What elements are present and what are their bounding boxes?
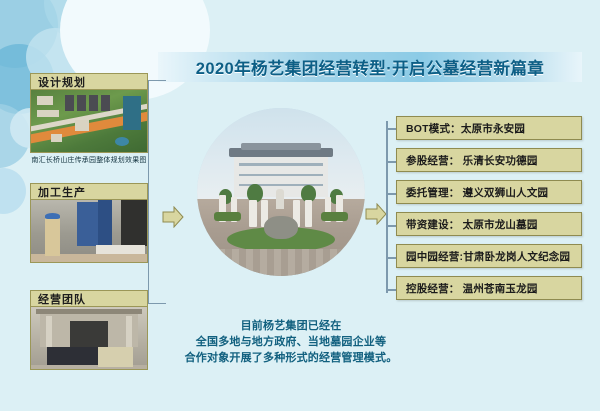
title-banner: 2020年杨艺集团经营转型·开启公墓经营新篇章 — [158, 52, 582, 82]
business-model-item-park-in-park[interactable]: 园中园经营:甘肃卧龙岗人文纪念园 — [396, 244, 582, 268]
business-model-item-entrusted[interactable]: 委托管理： 遵义双狮山人文园 — [396, 180, 582, 204]
card-processing-production[interactable]: 加工生产 — [30, 183, 148, 263]
management-team-photo — [30, 307, 148, 370]
arrow-right-icon — [365, 203, 387, 225]
business-model-label: 带资建设： 太原市龙山墓园 — [406, 217, 538, 232]
bubble-icon — [0, 168, 26, 214]
left-bracket-connector — [148, 80, 166, 304]
business-model-item-holding[interactable]: 控股经营： 温州苍南玉龙园 — [396, 276, 582, 300]
business-model-label: 园中园经营:甘肃卧龙岗人文纪念园 — [406, 249, 570, 264]
summary-line-1: 目前杨艺集团已经在 — [168, 318, 414, 334]
business-model-item-bot[interactable]: BOT模式：太原市永安园 — [396, 116, 582, 140]
summary-line-3: 合作对象开展了多种形式的经营管理模式。 — [168, 350, 414, 366]
business-model-label: BOT模式：太原市永安园 — [406, 121, 525, 136]
aerial-masterplan-photo — [30, 90, 148, 153]
card-label-header: 经营团队 — [30, 290, 148, 307]
page-title: 2020年杨艺集团经营转型·开启公墓经营新篇章 — [196, 55, 544, 79]
card-label-header: 加工生产 — [30, 183, 148, 200]
cemetery-office-building-fountain-photo — [197, 108, 365, 276]
business-model-item-equity[interactable]: 参股经营： 乐清长安功德园 — [396, 148, 582, 172]
summary-line-2: 全国多地与地方政府、当地墓园企业等 — [168, 334, 414, 350]
card-label-text: 设计规划 — [38, 74, 86, 90]
summary-paragraph: 目前杨艺集团已经在 全国多地与地方政府、当地墓园企业等 合作对象开展了多种形式的… — [168, 318, 414, 366]
arrow-right-icon — [162, 206, 184, 228]
business-model-label: 委托管理： 遵义双狮山人文园 — [406, 185, 548, 200]
card-label-text: 加工生产 — [38, 184, 86, 200]
card-label-header: 设计规划 — [30, 73, 148, 90]
poster-canvas: 2020年杨艺集团经营转型·开启公墓经营新篇章 设计规划 南汇长桥山庄传承园整体… — [0, 0, 600, 411]
business-model-item-funded-construction[interactable]: 带资建设： 太原市龙山墓园 — [396, 212, 582, 236]
factory-production-photo — [30, 200, 148, 263]
card-design-planning[interactable]: 设计规划 南汇长桥山庄传承园整体规划效果图 — [30, 73, 148, 165]
card-management-team[interactable]: 经营团队 — [30, 290, 148, 370]
business-model-label: 参股经营： 乐清长安功德园 — [406, 153, 538, 168]
card-label-text: 经营团队 — [38, 291, 86, 307]
business-model-label: 控股经营： 温州苍南玉龙园 — [406, 281, 538, 296]
card-caption: 南汇长桥山庄传承园整体规划效果图 — [30, 155, 148, 165]
